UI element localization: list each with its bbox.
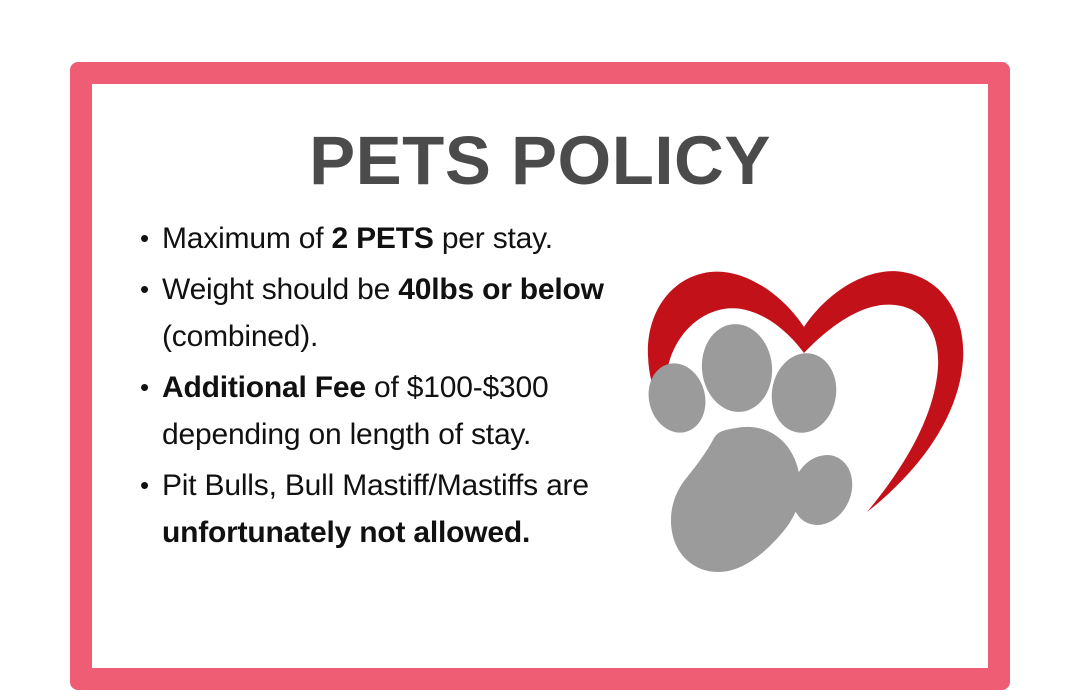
- list-item: Maximum of 2 PETS per stay.: [140, 215, 640, 262]
- body-text: Maximum of: [162, 222, 332, 255]
- list-item: Additional Fee of $100-$300 depending on…: [140, 364, 640, 458]
- emphasis-text: 2 PETS: [332, 222, 434, 255]
- pets-policy-poster: PETS POLICY Maximum of 2 PETS per stay. …: [0, 0, 1080, 700]
- emphasis-text: 40lbs or below: [398, 273, 604, 306]
- body-text: per stay.: [434, 222, 553, 255]
- emphasis-text: unfortunately not allowed.: [162, 516, 530, 549]
- body-text: (combined).: [162, 320, 318, 353]
- page-title: PETS POLICY: [0, 126, 1080, 195]
- heart-paw-icon: [618, 250, 988, 590]
- body-text: Weight should be: [162, 273, 398, 306]
- body-text: Pit Bulls, Bull Mastiff/Mastiffs are: [162, 469, 589, 502]
- list-item: Pit Bulls, Bull Mastiff/Mastiffs are unf…: [140, 462, 640, 556]
- emphasis-text: Additional Fee: [162, 371, 366, 404]
- paw-shape: [641, 321, 863, 572]
- policy-list: Maximum of 2 PETS per stay. Weight shoul…: [140, 215, 640, 560]
- list-item: Weight should be 40lbs or below (combine…: [140, 266, 640, 360]
